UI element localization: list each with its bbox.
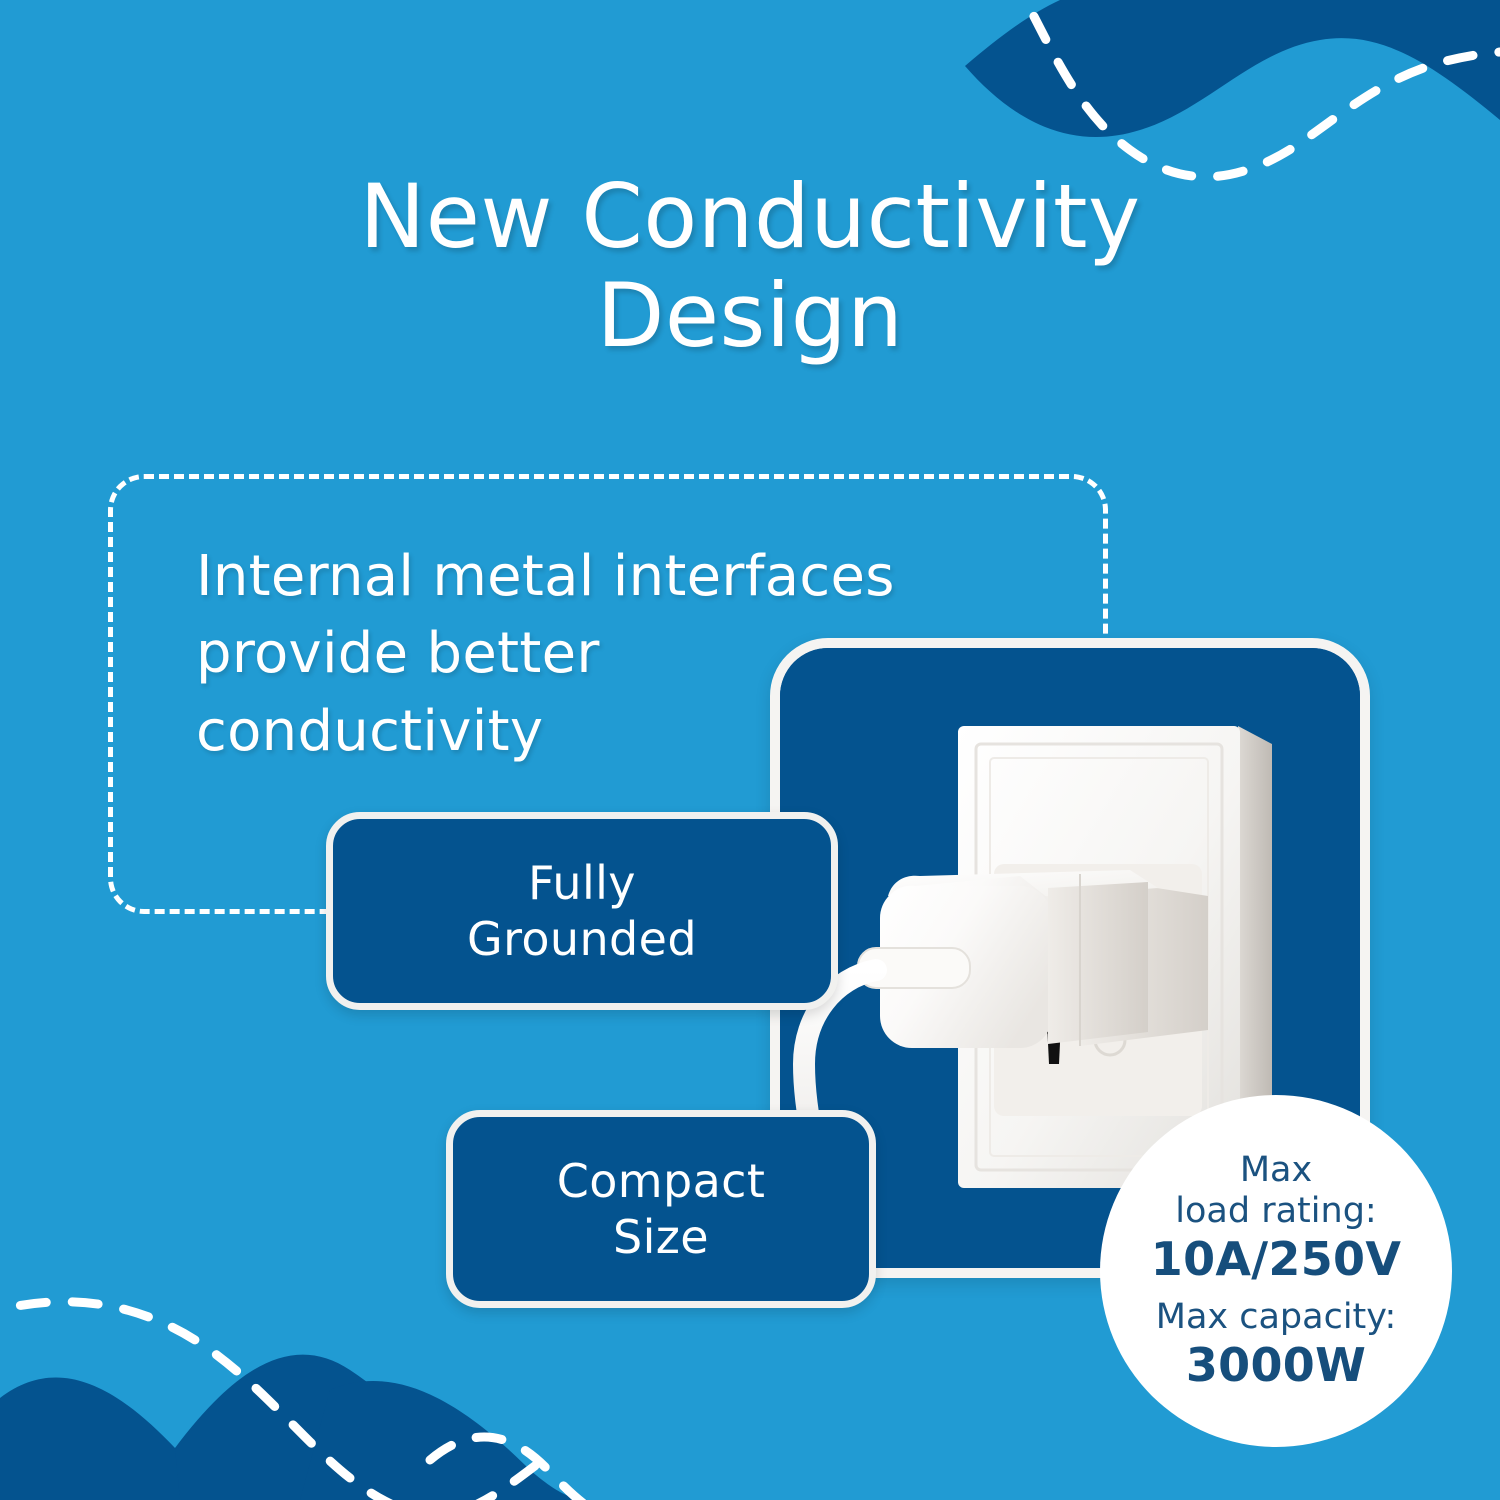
- dashed-curve-bottom: [0, 1302, 540, 1500]
- feature-line-1: Internal metal interfaces: [196, 538, 1066, 615]
- page-title: New Conductivity Design: [0, 168, 1500, 365]
- badge-fully-grounded[interactable]: Fully Grounded: [326, 812, 838, 1010]
- spec-load-rating-value: 10A/250V: [1151, 1232, 1401, 1286]
- wave-bottom-navy-2: [175, 1355, 540, 1500]
- badge-fully-grounded-line-2: Grounded: [467, 912, 697, 966]
- spec-badge-circle: Max load rating: 10A/250V Max capacity: …: [1100, 1095, 1452, 1447]
- badge-compact-size[interactable]: Compact Size: [446, 1110, 876, 1308]
- feature-description: Internal metal interfaces provide better…: [196, 538, 1066, 770]
- spec-load-rating-label-line-2: load rating:: [1175, 1191, 1376, 1232]
- badge-fully-grounded-text: Fully Grounded: [449, 851, 715, 971]
- title-line-1: New Conductivity: [0, 168, 1500, 267]
- wave-bottom-navy-3: [300, 1381, 590, 1500]
- feature-line-3: conductivity: [196, 693, 1066, 770]
- badge-compact-size-text: Compact Size: [539, 1149, 784, 1269]
- spec-load-rating-label-line-1: Max: [1240, 1150, 1312, 1191]
- badge-compact-size-line-2: Size: [613, 1210, 709, 1264]
- wave-bottom-navy: [0, 1378, 280, 1500]
- usb-adapter-side-face: [1048, 882, 1148, 1044]
- wave-top-navy: [965, 0, 1500, 137]
- badge-fully-grounded-line-1: Fully: [528, 856, 636, 910]
- dashed-curve-bottom-tail: [430, 1437, 640, 1500]
- product-feature-poster: New Conductivity Design Internal metal i…: [0, 0, 1500, 1500]
- dashed-curve-top: [1010, 0, 1500, 177]
- badge-compact-size-line-1: Compact: [557, 1154, 766, 1208]
- title-line-2: Design: [0, 267, 1500, 366]
- spec-capacity-value: 3000W: [1186, 1338, 1366, 1392]
- feature-line-2: provide better: [196, 615, 1066, 692]
- spec-capacity-label: Max capacity:: [1156, 1297, 1397, 1338]
